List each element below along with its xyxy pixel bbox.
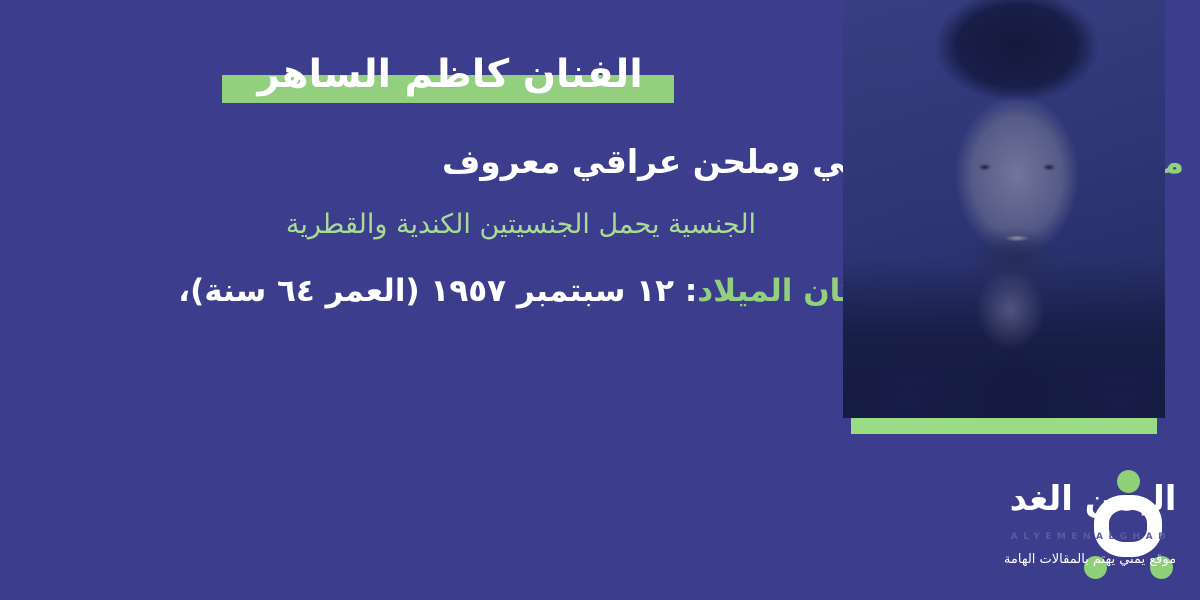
info-line-2-value: الجنسية يحمل الجنسيتين الكندية والقطرية [286, 209, 756, 240]
info-card-canvas: الفنان كاظم الساهر معلومات : فنان عراقي … [0, 0, 1200, 600]
info-line-3-value: : ١٢ سبتمبر ١٩٥٧ (العمر ٦٤ سنة)، [178, 273, 697, 309]
logo-tagline: موقع يمني يهتم بالمقالات الهامة [996, 552, 1184, 567]
portrait-frame [851, 42, 1157, 434]
title-text: الفنان كاظم الساهر [220, 44, 680, 106]
page-title: الفنان كاظم الساهر [220, 44, 680, 106]
site-logo[interactable]: اليمن الغد ALYEMENALGHAD موقع يمني يهتم … [888, 468, 1186, 588]
portrait-image [843, 0, 1165, 418]
logo-latin-name: ALYEMENALGHAD [1002, 532, 1180, 542]
portrait-inner [867, 58, 1141, 418]
portrait-clip [843, 0, 1165, 418]
logo-wordmark: اليمن الغد [1004, 482, 1182, 516]
